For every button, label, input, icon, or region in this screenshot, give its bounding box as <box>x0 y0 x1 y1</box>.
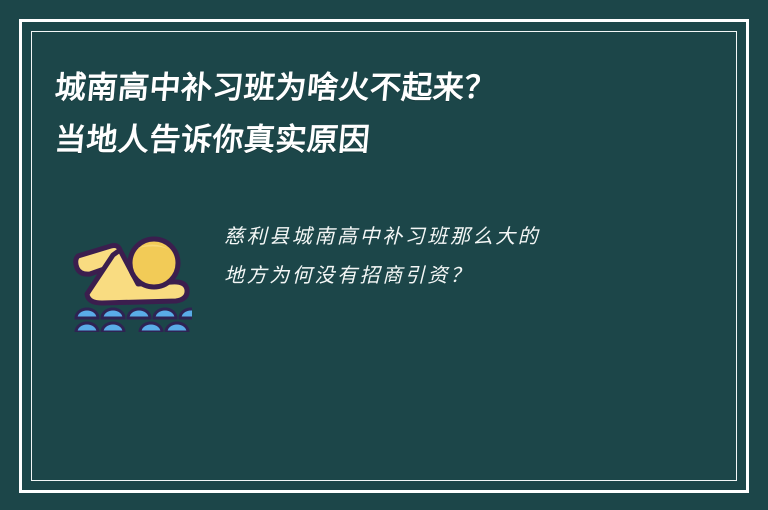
page-title: 城南高中补习班为啥火不起来？ 当地人告诉你真实原因 <box>55 62 675 166</box>
page-title-line-2: 当地人告诉你真实原因 <box>53 114 678 166</box>
swimmer-icon <box>68 222 192 332</box>
body-text-line-2: 地方为何没有招商引资？ <box>224 257 664 296</box>
poster-canvas: 城南高中补习班为啥火不起来？ 当地人告诉你真实原因 <box>0 0 768 510</box>
body-text-line-1: 慈利县城南高中补习班那么大的 <box>224 218 664 257</box>
body-text: 慈利县城南高中补习班那么大的 地方为何没有招商引资？ <box>224 218 664 296</box>
page-title-line-1: 城南高中补习班为啥火不起来？ <box>53 62 678 114</box>
